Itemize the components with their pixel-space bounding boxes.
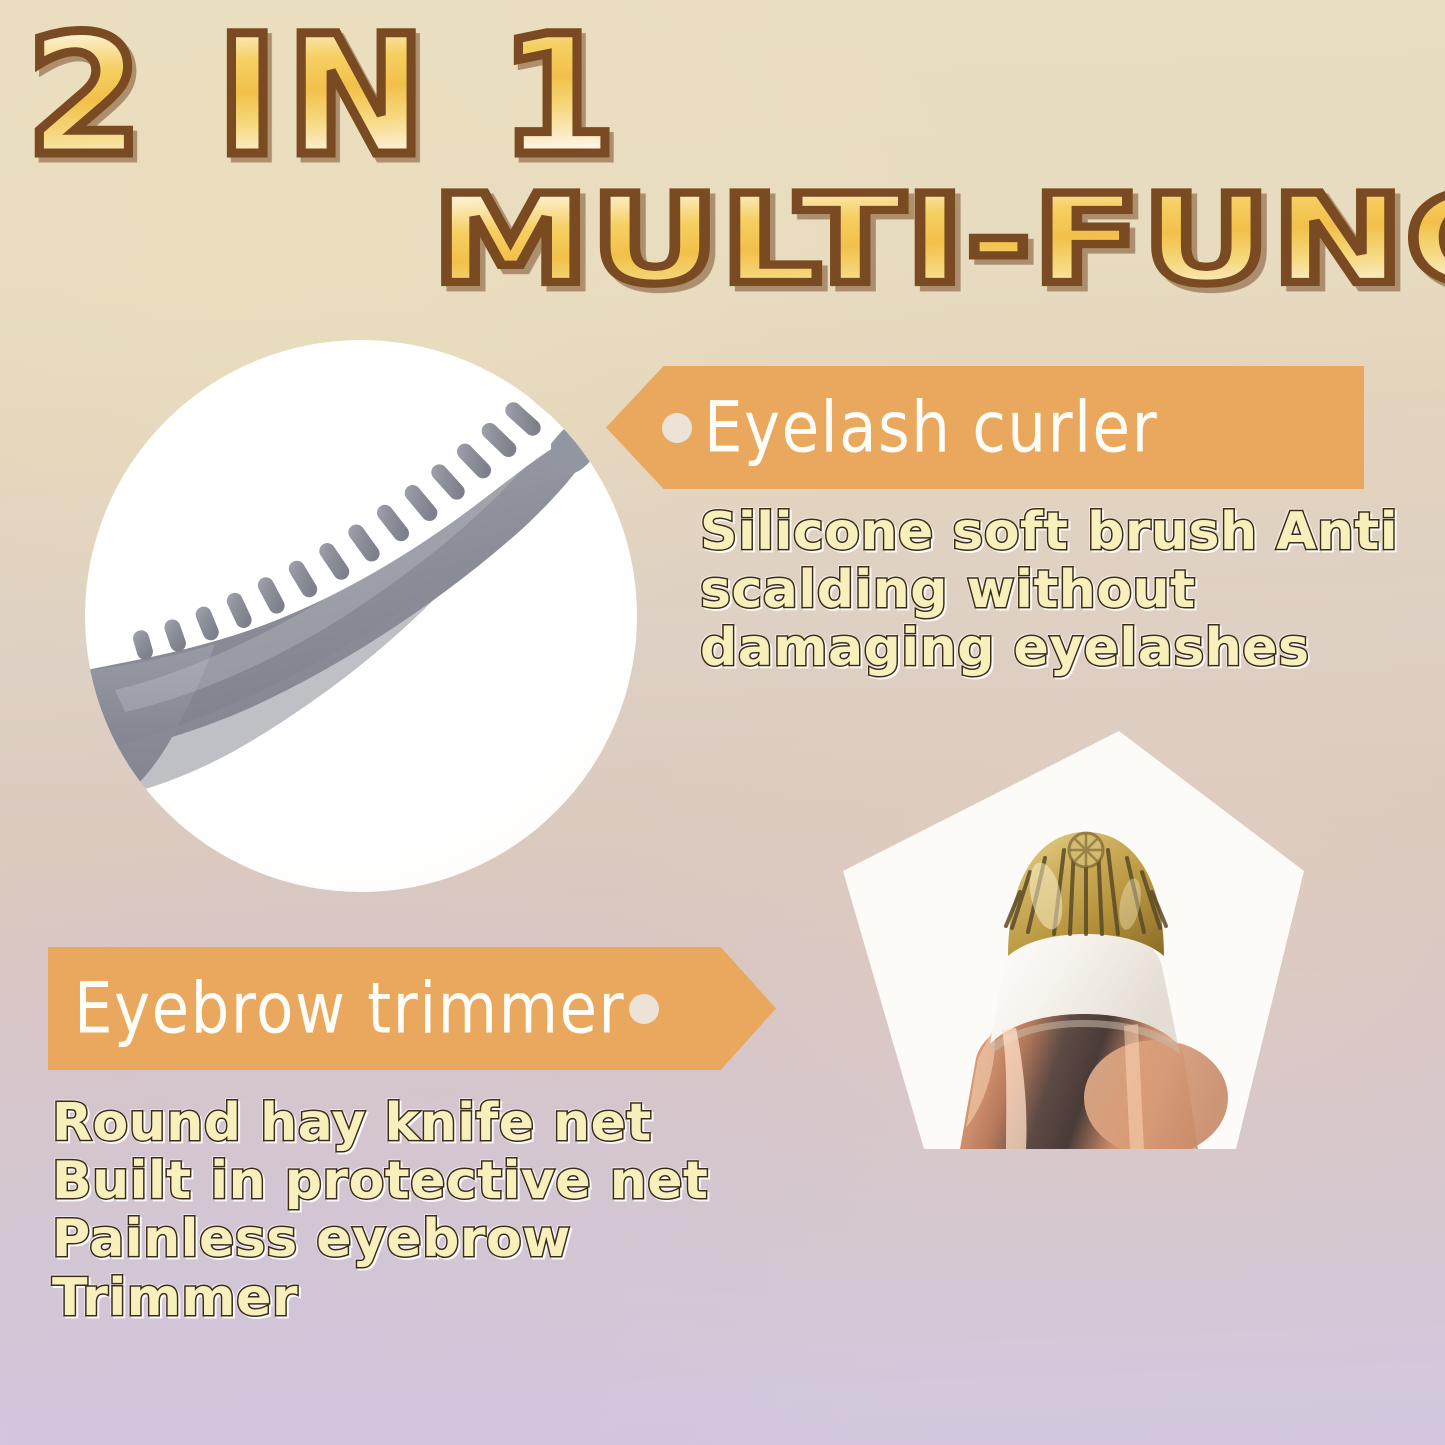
banner-label-eyelash-curler: Eyelash curler (704, 392, 1158, 463)
eyebrow-trimmer-photo (838, 728, 1308, 1273)
description-eyebrow-trimmer: Round hay knife net Built in protective … (52, 1094, 792, 1327)
bullet-dot-icon (629, 994, 659, 1024)
headline-primary: 2 IN 1 (26, 14, 624, 179)
description-eyelash-curler: Silicone soft brush Anti scalding withou… (700, 503, 1426, 678)
product-feature-infographic: 2 IN 1 MULTI-FUNCTION (0, 0, 1445, 1445)
eyelash-curler-photo (85, 340, 637, 892)
bullet-dot-icon (662, 413, 692, 443)
banner-eyelash-curler[interactable]: Eyelash curler (606, 366, 1364, 489)
banner-eyebrow-trimmer[interactable]: Eyebrow trimmer (48, 947, 776, 1070)
trimmer-head-illustration (838, 728, 1308, 1273)
banner-label-eyebrow-trimmer: Eyebrow trimmer (74, 973, 625, 1044)
silicone-comb-illustration (85, 340, 637, 892)
headline-secondary: MULTI-FUNCTION (432, 178, 1445, 301)
